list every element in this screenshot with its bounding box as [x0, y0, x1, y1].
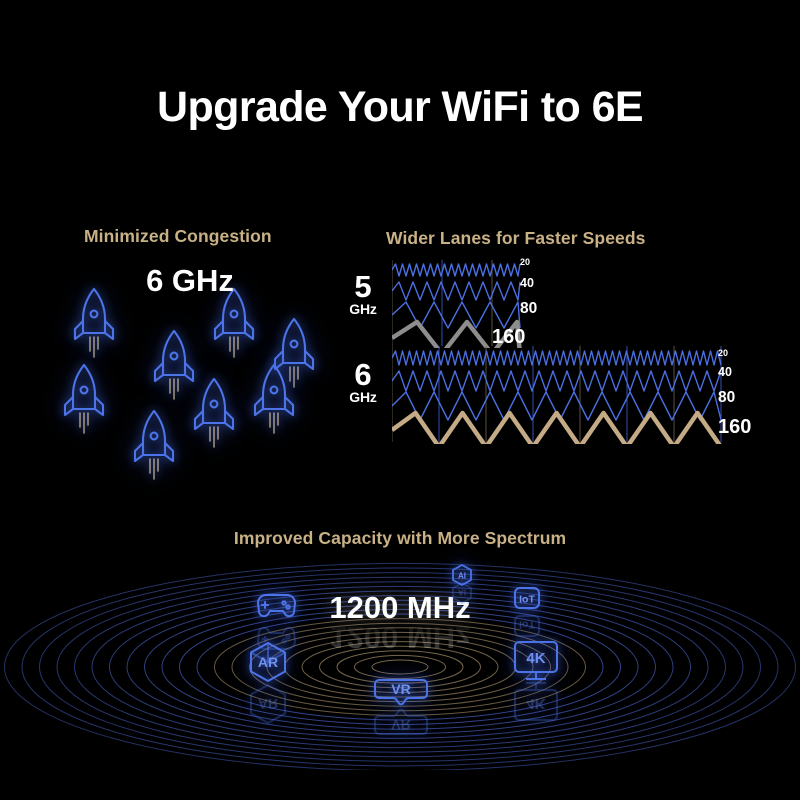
ai-icon-label-reflection: AI [458, 588, 466, 597]
rocket-icon [248, 359, 300, 437]
lane-waves-6ghz [392, 344, 742, 444]
ai-icon-label: AI [458, 572, 466, 581]
heading-improved-capacity: Improved Capacity with More Spectrum [0, 528, 800, 549]
infographic-canvas: Upgrade Your WiFi to 6E Minimized Conges… [0, 0, 800, 800]
band-number-6: 6 [337, 360, 389, 389]
band-label-6ghz: 6 GHz [337, 360, 389, 405]
spectrum-ellipse-field: 1200 MHz 1200 MHz [0, 555, 800, 770]
lane-tick-160-6ghz: 160 [718, 416, 751, 439]
iot-icon-label: IoT [519, 594, 535, 606]
device-tv-4k: 4K 4K [512, 638, 560, 724]
lane-tick-80-5ghz: 80 [520, 300, 537, 318]
capacity-value: 1200 MHz [0, 590, 800, 626]
vr-icon-label: VR [391, 681, 410, 697]
vr-icon-label-reflection: VR [391, 717, 410, 733]
rocket-cluster: 6 GHz [40, 255, 340, 485]
lane-tick-20-6ghz: 20 [718, 348, 728, 358]
band-number-5: 5 [337, 272, 389, 301]
heading-wider-lanes: Wider Lanes for Faster Speeds [386, 228, 646, 249]
device-ar: AR AR [245, 640, 291, 726]
rocket-icon [188, 373, 240, 451]
heading-minimized-congestion: Minimized Congestion [84, 226, 272, 247]
device-vr: VR VR [373, 672, 429, 742]
ar-icon-label-reflection: AR [258, 696, 278, 712]
band-unit-6: GHz [337, 389, 389, 405]
tv-4k-icon-label: 4K [526, 650, 545, 667]
lane-comparison-chart: 5 GHz 20 40 80 160 6 GHz 20 40 80 160 [335, 250, 785, 450]
iot-icon-label-reflection: IoT [519, 619, 535, 631]
device-iot: IoT IoT [512, 585, 542, 639]
device-ai: AI AI [450, 563, 474, 605]
band-unit-5: GHz [337, 301, 389, 317]
tv-4k-icon-label-reflection: 4K [526, 695, 545, 712]
band-label-5ghz: 5 GHz [337, 272, 389, 317]
ar-icon-label: AR [258, 654, 278, 670]
lane-tick-80-6ghz: 80 [718, 389, 735, 407]
lane-tick-20-5ghz: 20 [520, 257, 530, 267]
page-title: Upgrade Your WiFi to 6E [0, 83, 800, 132]
lane-tick-40-6ghz: 40 [718, 365, 732, 379]
lane-tick-40-5ghz: 40 [520, 276, 534, 290]
congestion-value: 6 GHz [40, 263, 340, 299]
rocket-icon [128, 405, 180, 483]
rocket-icon [58, 359, 110, 437]
